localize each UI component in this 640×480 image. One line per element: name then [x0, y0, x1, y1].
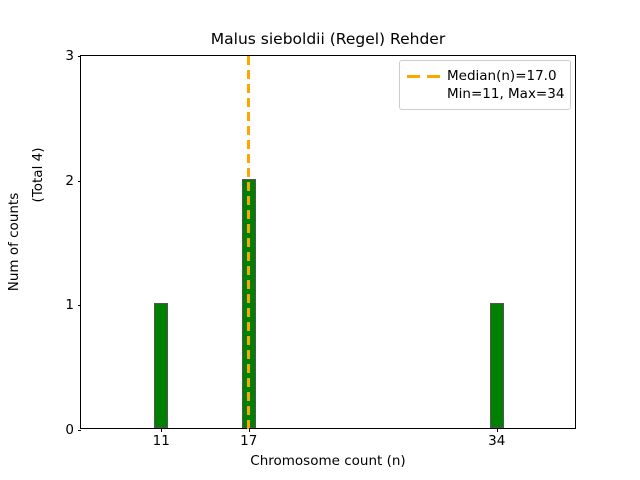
median-dash-segment	[247, 392, 250, 401]
median-dash-segment	[247, 182, 250, 191]
median-dash-segment	[247, 210, 250, 219]
legend-dash-segment	[427, 75, 440, 78]
x-tick-label: 17	[240, 434, 257, 449]
median-dash-segment	[247, 364, 250, 373]
median-dash-segment	[247, 154, 250, 163]
median-dash-segment	[247, 294, 250, 303]
median-dash-segment	[247, 308, 250, 317]
x-tick-mark	[161, 428, 162, 432]
median-dash-segment	[247, 350, 250, 359]
legend-median-line-swatch	[407, 75, 441, 78]
y-tick-mark	[78, 56, 82, 57]
legend: Median(n)=17.0 Min=11, Max=34	[399, 60, 571, 110]
median-dash-segment	[247, 126, 250, 135]
median-dash-segment	[247, 224, 250, 233]
y-tick-label: 2	[65, 174, 74, 188]
chart-figure: Malus sieboldii (Regel) Rehder 0123 1117…	[0, 0, 640, 480]
y-tick-mark	[78, 181, 82, 182]
x-tick-label: 34	[488, 434, 505, 449]
x-tick-mark	[249, 428, 250, 432]
y-tick-label: 1	[65, 298, 74, 312]
median-dash-segment	[247, 112, 250, 121]
x-axis-label: Chromosome count (n)	[80, 453, 576, 469]
median-dash-segment	[247, 140, 250, 149]
median-dash-segment	[247, 322, 250, 331]
median-dash-segment	[247, 266, 250, 275]
median-dash-segment	[247, 70, 250, 79]
median-dash-segment	[247, 378, 250, 387]
median-dash-segment	[247, 168, 250, 177]
legend-label-median: Median(n)=17.0	[447, 68, 557, 84]
median-dash-segment	[247, 84, 250, 93]
legend-dash-segment	[407, 75, 420, 78]
median-line	[247, 56, 250, 428]
median-dash-segment	[247, 280, 250, 289]
legend-label-minmax: Min=11, Max=34	[447, 86, 564, 102]
median-dash-segment	[247, 98, 250, 107]
median-dash-segment	[247, 238, 250, 247]
chart-title: Malus sieboldii (Regel) Rehder	[80, 30, 576, 48]
median-dash-segment	[247, 252, 250, 261]
y-axis-label: Num of counts	[6, 193, 22, 292]
x-tick-label: 11	[153, 434, 170, 449]
y-tick-label: 3	[65, 49, 74, 63]
y-tick-mark	[78, 430, 82, 431]
bar	[154, 303, 168, 428]
x-tick-mark	[497, 428, 498, 432]
y-tick-mark	[78, 305, 82, 306]
median-dash-segment	[247, 406, 250, 415]
y-axis-label-secondary: (Total 4)	[30, 148, 46, 203]
median-dash-segment	[247, 336, 250, 345]
median-dash-segment	[247, 196, 250, 205]
median-dash-segment	[247, 56, 250, 65]
bar	[490, 303, 504, 428]
y-tick-label: 0	[65, 423, 74, 437]
plot-area: 0123 111734	[80, 55, 576, 429]
